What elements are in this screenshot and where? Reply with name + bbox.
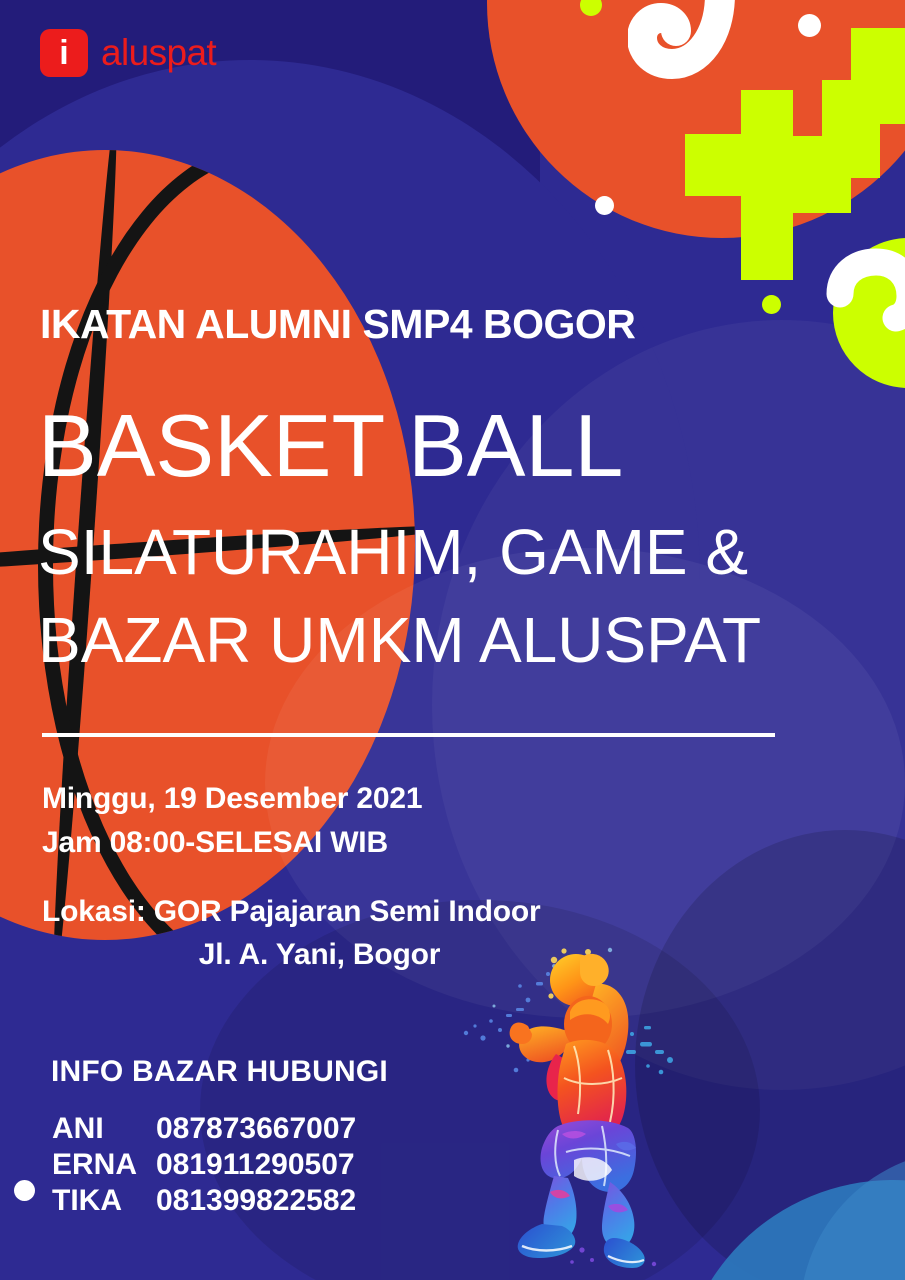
horizontal-divider [42,733,775,737]
event-date: Minggu, 19 Desember 2021 [42,782,422,816]
list-item: ERNA 081911290507 [52,1148,356,1184]
page-title: BASKET BALL [38,402,623,490]
logo-letter-i: i [59,36,68,70]
contact-name: ANI [52,1112,156,1146]
contact-phone[interactable]: 087873667007 [156,1112,356,1146]
event-venue-line-1: Lokasi: GOR Pajajaran Semi Indoor [42,895,541,929]
contact-name: TIKA [52,1184,156,1218]
basketball-player-illustration [458,938,713,1268]
event-poster: i aluspat IKATAN ALUMNI SMP4 BOGOR BASKE… [0,0,905,1280]
logo-mark-icon: i [40,29,88,77]
subtitle-line-1: SILATURAHIM, GAME & [38,520,748,584]
aluspat-logo[interactable]: i aluspat [40,29,216,77]
list-item: ANI 087873667007 [52,1112,356,1148]
contact-list: ANI 087873667007 ERNA 081911290507 TIKA … [52,1112,356,1220]
contact-phone[interactable]: 081399822582 [156,1184,356,1218]
organization-name: IKATAN ALUMNI SMP4 BOGOR [40,301,635,348]
poster-content: i aluspat IKATAN ALUMNI SMP4 BOGOR BASKE… [0,0,905,1280]
contact-phone[interactable]: 081911290507 [156,1148,355,1182]
subtitle-line-2: BAZAR UMKM ALUSPAT [38,608,761,672]
contact-name: ERNA [52,1148,156,1182]
event-time: Jam 08:00-SELESAI WIB [42,826,388,860]
contact-heading: INFO BAZAR HUBUNGI [51,1055,388,1089]
list-item: TIKA 081399822582 [52,1184,356,1220]
logo-wordmark: aluspat [101,32,216,74]
